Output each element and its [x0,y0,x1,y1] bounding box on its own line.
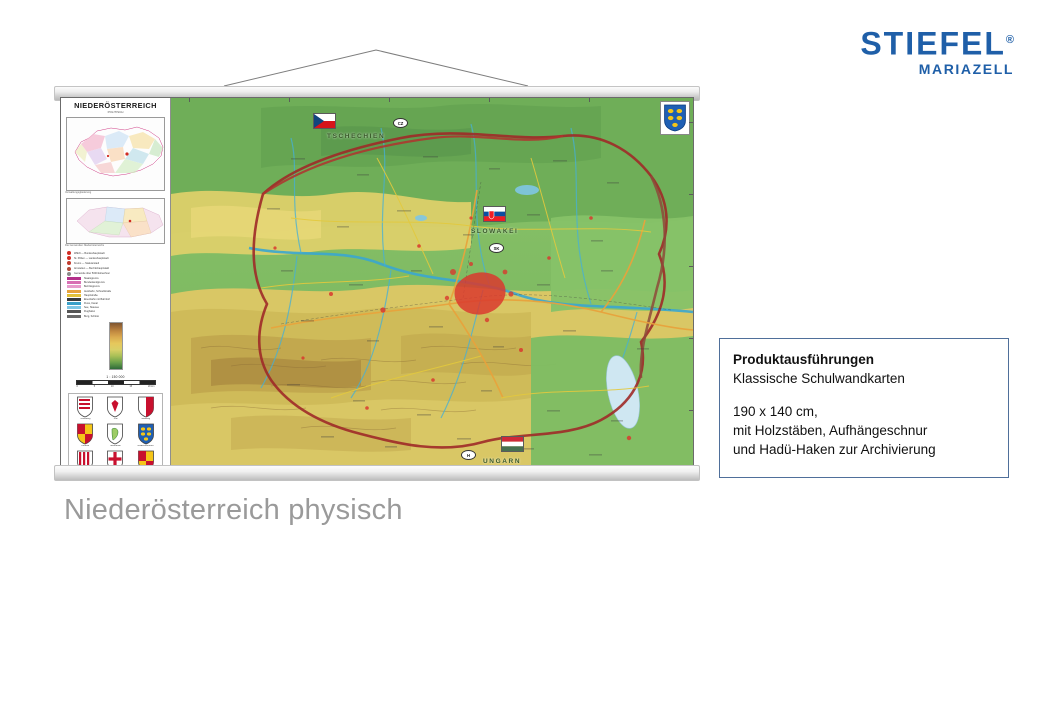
shield-icon-kärnten [76,423,94,445]
niederoesterreich-shield-icon [662,103,688,133]
coats-of-arms-box: VorarlbergTirolSalzburgKärntenSteiermark… [68,393,163,467]
legend-swatch-5 [67,277,81,280]
product-details-spacer [733,388,1008,402]
scale-tick-4: 20 km [148,385,155,388]
logo-brand: STIEFEL® [828,24,1014,60]
coat-of-arms-caption-1: Tirol [101,418,130,421]
scale-tick-3: 15 [129,385,132,388]
grid-tick-top-E [589,98,590,102]
map-rail-bottom [54,465,700,481]
legend-swatch-11 [67,302,81,305]
legend-key-6: Bundeslandgrenze [67,281,164,284]
legend-swatch-4 [67,272,71,276]
inset-map-communes [66,198,165,244]
coat-of-arms-caption-5: Niederösterreich [131,445,160,448]
legend-key-11: Fluss, Kanal [67,302,164,305]
legend-key-label-1: St. Pölten — Landeshauptstadt [74,257,109,260]
elevation-color-ramp [109,322,123,370]
legend-swatch-9 [67,294,81,297]
grid-tick-right-1 [689,122,693,123]
legend-key-7: Bezirksgrenze [67,285,164,288]
legend-swatch-3 [67,267,71,271]
wall-map: NIEDERÖSTERREICH POLITISCH [46,42,706,492]
legend-key-8: Autobahn, Schnellstraße [67,290,164,293]
legend-key-12: See, Stausee [67,306,164,309]
grid-tick-right-5 [689,410,693,411]
coat-of-arms-salzburg: Salzburg [131,396,160,422]
coat-of-arms-niederösterreich: Niederösterreich [131,423,160,449]
flag-czech-icon [313,113,336,129]
legend-key-0: WIEN — Bundeshauptstadt [67,251,164,255]
country-code-h: H [461,450,476,460]
grid-tick-top-D [489,98,490,102]
legend-key-1: St. Pölten — Landeshauptstadt [67,256,164,260]
legend-key-label-8: Autobahn, Schnellstraße [84,290,111,293]
legend-swatch-8 [67,290,81,293]
legend-key-9: Hauptstraße [67,294,164,297]
legend-key-13: Flughafen [67,310,164,313]
coat-of-arms-caption-0: Vorarlberg [71,418,100,421]
legend-subtitle: POLITISCH [63,110,168,115]
legend-swatch-12 [67,306,81,309]
legend-swatch-14 [67,315,81,318]
scale-ratio-text: 1 : 150 000 [67,375,164,379]
grid-tick-top-A [189,98,190,102]
legend-key-14: Burg, Schloss [67,315,164,318]
legend-key-label-10: Eisenbahn mit Bahnhof [84,298,110,301]
coat-of-arms-caption-4: Steiermark [101,445,130,448]
legend-key-label-12: See, Stausee [84,306,99,309]
grid-tick-top-B [289,98,290,102]
physical-map-face: TSCHECHIEN CZ SLOWAKEI SK UNGARN [171,98,693,466]
product-details-heading: Produktausführungen [733,350,1008,369]
legend-swatch-6 [67,281,81,284]
page-title: Niederösterreich physisch [64,494,403,527]
flag-hungary-icon [501,436,524,452]
country-label-ungarn: UNGARN [483,458,521,465]
legend-key-2: Krems — Statutarstadt [67,261,164,265]
coat-of-arms-vorarlberg: Vorarlberg [71,396,100,422]
legend-key-label-0: WIEN — Bundeshauptstadt [74,252,105,255]
grid-tick-right-4 [689,338,693,339]
grid-tick-top-C [389,98,390,102]
coat-of-arms-kärnten: Kärnten [71,423,100,449]
legend-key-label-7: Bezirksgrenze [84,285,100,288]
product-details-box: Produktausführungen Klassische Schulwand… [719,338,1009,478]
country-label-tschechien: TSCHECHIEN [327,133,385,140]
coat-of-arms-steiermark: Steiermark [101,423,130,449]
legend-key-label-11: Fluss, Kanal [84,302,98,305]
legend-key-label-9: Hauptstraße [84,294,98,297]
coat-of-arms-caption-2: Salzburg [131,418,160,421]
legend-key-label-14: Burg, Schloss [84,315,99,318]
hanging-cord-icon [46,42,706,86]
scale-tick-2: 10 [111,385,114,388]
shield-icon-salzburg [137,396,155,418]
shield-icon-vorarlberg [76,396,94,418]
coat-of-arms-tirol: Tirol [101,396,130,422]
inset-communes-graphic [67,199,165,243]
map-scale: 1 : 150 000 05101520 km [67,375,164,388]
inset1-caption: Verwaltungsgliederung [63,191,168,195]
flag-slovakia-icon [483,206,506,222]
legend-key-list: WIEN — BundeshauptstadtSt. Pölten — Land… [67,251,164,318]
product-details-line-1: Klassische Schulwandkarten [733,369,1008,388]
shield-icon-tirol [106,396,124,418]
shield-icon-niederösterreich [137,423,155,445]
product-details-line-2: 190 x 140 cm, [733,402,1008,421]
coat-of-arms-niederoesterreich [660,101,690,135]
map-frame: NIEDERÖSTERREICH POLITISCH [60,97,694,467]
grid-tick-right-3 [689,266,693,267]
legend-key-3: Amstetten — Bezirkshauptstadt [67,267,164,271]
legend-swatch-2 [67,261,71,265]
legend-key-label-2: Krems — Statutarstadt [74,262,99,265]
legend-key-10: Eisenbahn mit Bahnhof [67,298,164,301]
legend-key-label-5: Staatsgrenze [84,277,99,280]
product-details-line-4: und Hadü-Haken zur Archivierung [733,440,1008,459]
inset2-caption: Die Gemeinden Niederösterreichs [63,244,168,248]
grid-tick-right-2 [689,194,693,195]
logo-subtitle: MARIAZELL [828,61,1014,77]
scale-tick-labels: 05101520 km [77,385,155,388]
inset-districts-graphic [67,118,165,190]
stiefel-logo: STIEFEL® MARIAZELL [828,24,1014,74]
legend-swatch-7 [67,285,81,288]
country-label-slowakei: SLOWAKEI [471,228,518,235]
country-code-cz: CZ [393,118,408,128]
scale-tick-1: 5 [94,385,95,388]
country-code-sk: SK [489,243,504,253]
legend-key-label-13: Flughafen [84,310,95,313]
inset-map-districts [66,117,165,191]
coat-of-arms-caption-3: Kärnten [71,445,100,448]
map-legend-panel: NIEDERÖSTERREICH POLITISCH [61,98,171,466]
scale-tick-0: 0 [77,385,78,388]
coats-of-arms-grid: VorarlbergTirolSalzburgKärntenSteiermark… [71,396,160,467]
legend-title: NIEDERÖSTERREICH [63,101,168,110]
legend-swatch-10 [67,298,81,301]
legend-swatch-0 [67,251,71,255]
shield-icon-steiermark [106,423,124,445]
legend-key-label-4: Gemeinde über 5000 Einwohner [74,272,110,275]
legend-swatch-13 [67,310,81,313]
registered-mark: ® [1006,34,1014,46]
legend-key-label-3: Amstetten — Bezirkshauptstadt [74,267,109,270]
legend-swatch-1 [67,256,71,260]
legend-key-5: Staatsgrenze [67,277,164,280]
product-details-line-3: mit Holzstäben, Aufhängeschnur [733,421,1008,440]
legend-key-label-6: Bundeslandgrenze [84,281,105,284]
legend-key-4: Gemeinde über 5000 Einwohner [67,272,164,276]
terrain-relief-graphic [171,98,693,466]
